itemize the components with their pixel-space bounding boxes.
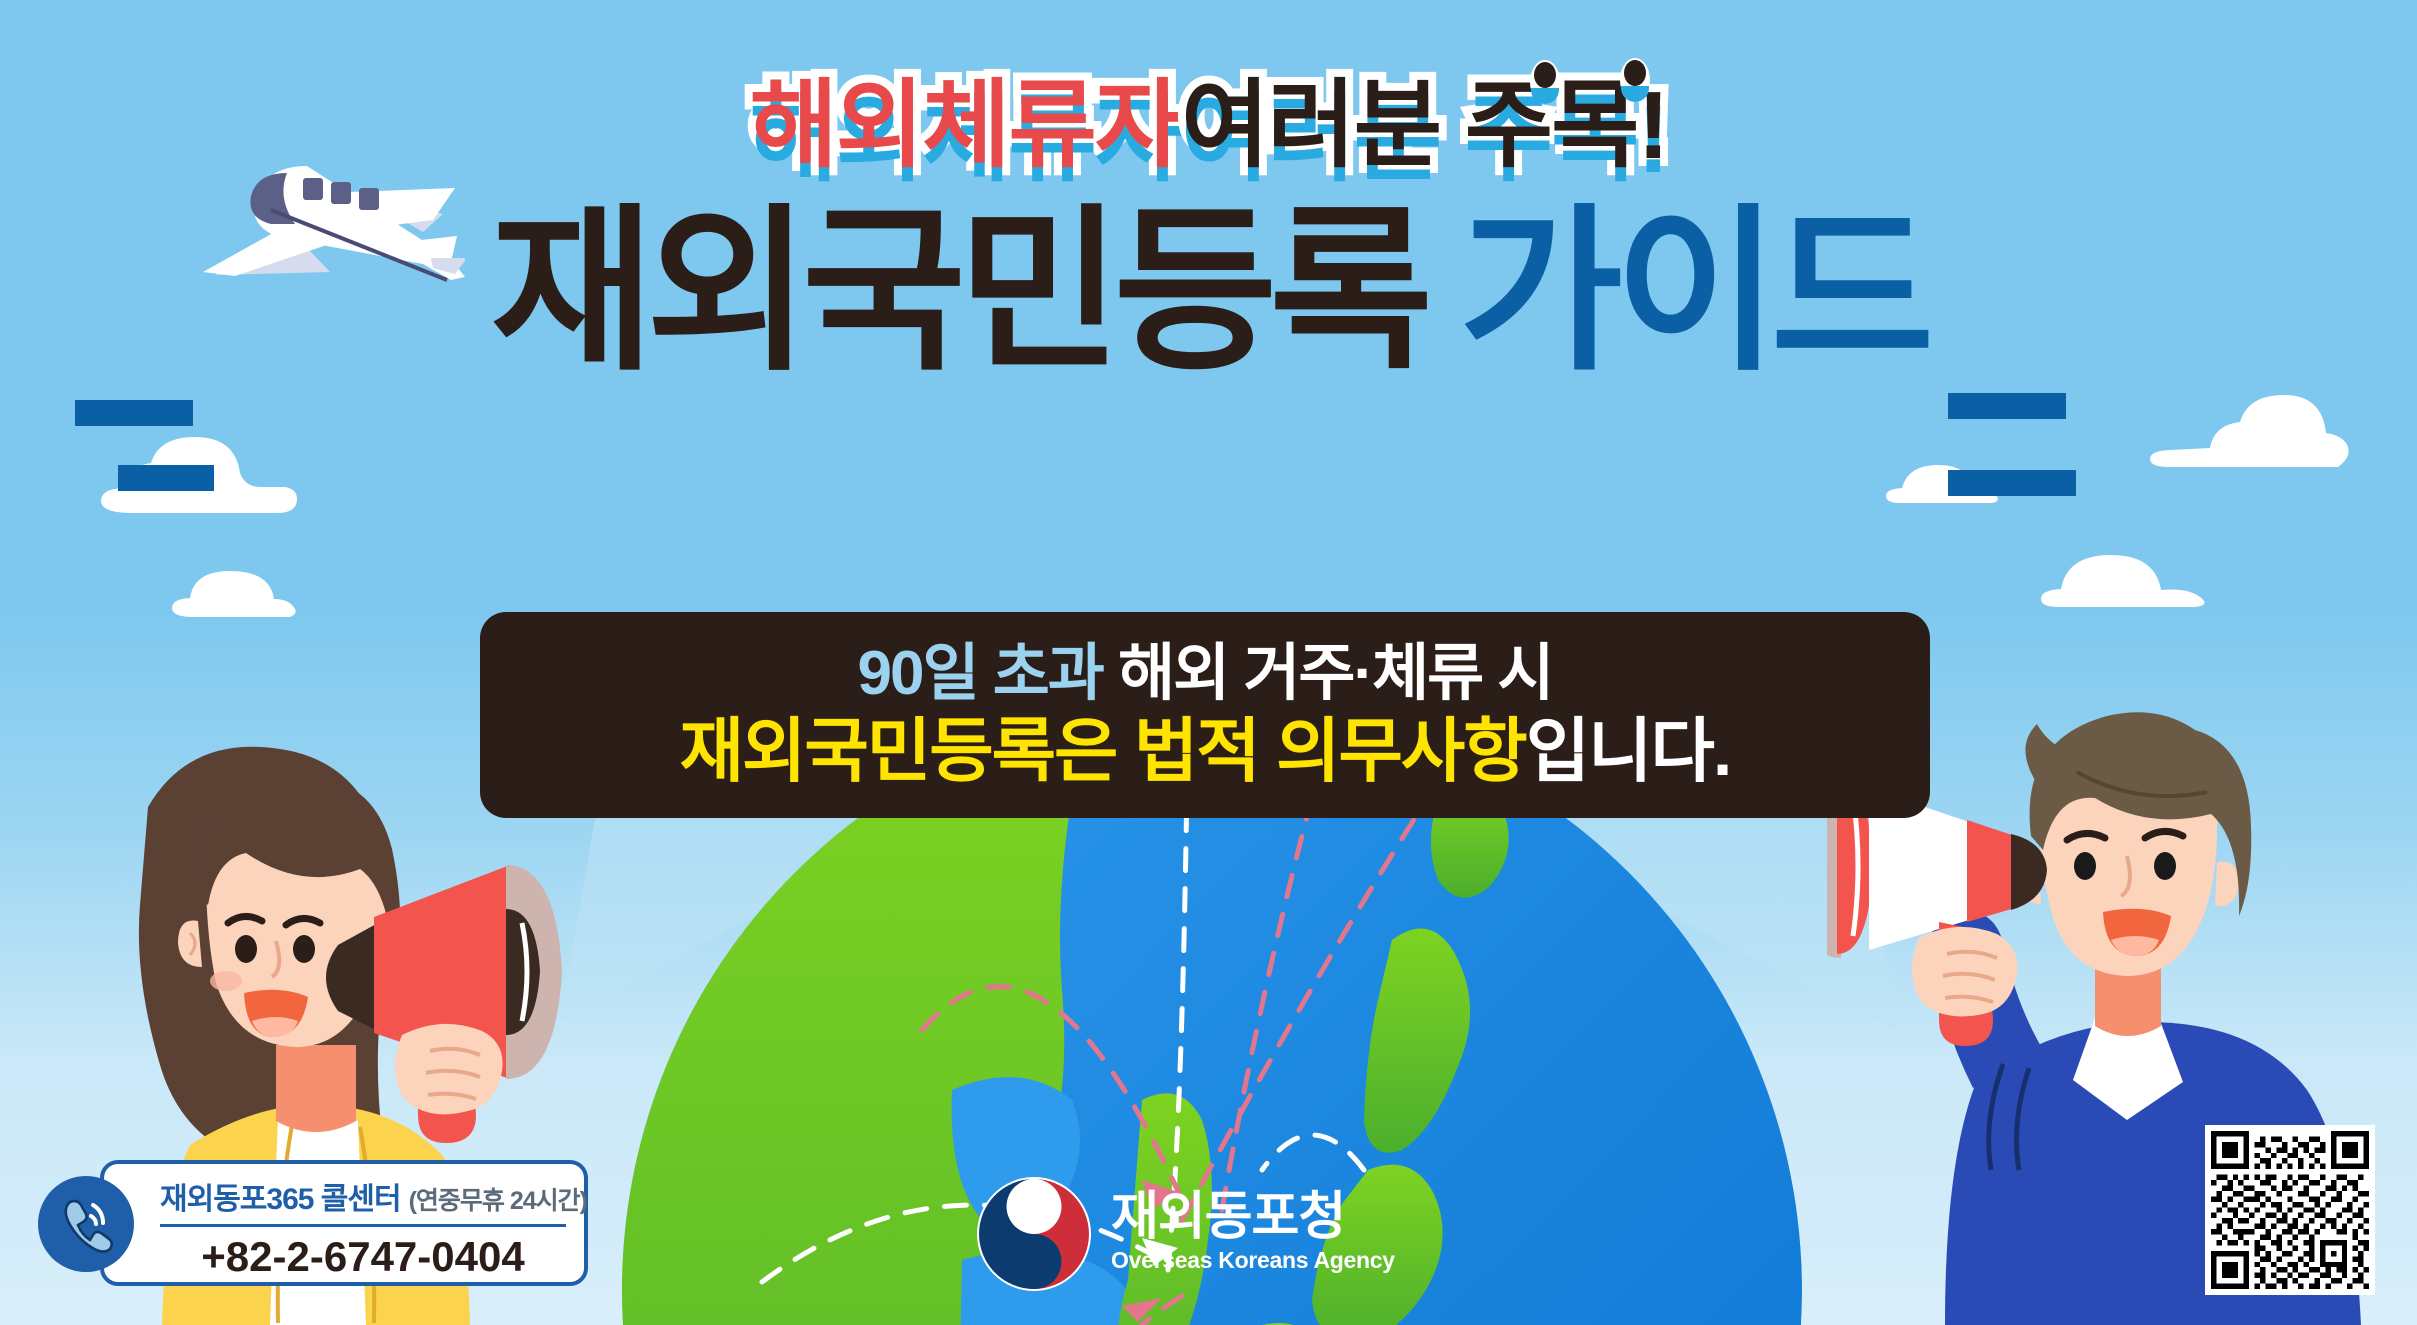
cloud-4 [2035, 535, 2230, 615]
notice-banner: 90일 초과 해외 거주·체류 시 재외국민등록은 법적 의무사항입니다. [480, 612, 1930, 818]
phone-ring-icon [57, 1195, 115, 1253]
banner-line-2: 재외국민등록은 법적 의무사항입니다. [680, 710, 1731, 793]
cloud-2 [160, 555, 320, 625]
poster-root: 해외체류자여러분 주목! 재외국민등록가이드 [0, 0, 2417, 1325]
oka-logo-text: 재외동포청 Overseas Koreans Agency [1111, 1191, 1395, 1278]
title-dark-text: 재외국민등록 [491, 192, 1426, 391]
title-dash-right-1 [1948, 393, 2066, 419]
call-center-hours: (연중무휴 24시간) [409, 1181, 587, 1217]
call-center-phone[interactable]: +82-2-6747-0404 [160, 1227, 566, 1281]
title-dash-right-2 [1948, 470, 2076, 496]
decor-eye-left [1530, 60, 1560, 104]
call-center-card[interactable]: 재외동포365 콜센터 (연중무휴 24시간) +82-2-6747-0404 [100, 1160, 588, 1286]
cloud-3 [2140, 385, 2355, 480]
oka-name-ko: 재외동포청 [1111, 1191, 1395, 1243]
title-blue-text: 가이드 [1459, 192, 1926, 391]
call-center-header: 재외동포365 콜센터 (연중무휴 24시간) [160, 1174, 566, 1227]
banner-line-1: 90일 초과 해외 거주·체류 시 [858, 637, 1553, 710]
decor-eye-right [1620, 58, 1650, 102]
kicker-red-text: 해외체류자 [750, 78, 1182, 174]
banner-line2-rest: 입니다. [1526, 712, 1731, 790]
call-center-name: 재외동포365 콜센터 [160, 1174, 401, 1218]
oka-name-en: Overseas Koreans Agency [1111, 1243, 1395, 1278]
phone-badge [38, 1176, 134, 1272]
title-dash-left-2 [118, 465, 214, 491]
kicker-dark-text: 여러분 주목! [1181, 78, 1667, 174]
page-title: 재외국민등록가이드 [0, 200, 2417, 383]
kicker-line: 해외체류자여러분 주목! [0, 78, 2417, 174]
banner-line1-highlight: 90일 초과 [858, 639, 1103, 708]
banner-line1-rest: 해외 거주·체류 시 [1103, 639, 1553, 708]
qr-code-image [2211, 1131, 2369, 1289]
title-dash-left-1 [75, 400, 193, 426]
banner-line2-highlight: 재외국민등록은 법적 의무사항 [680, 712, 1526, 790]
qr-code[interactable] [2205, 1125, 2375, 1295]
taegeuk-emblem-icon [975, 1175, 1093, 1293]
oka-logo: 재외동포청 Overseas Koreans Agency [975, 1175, 1395, 1293]
